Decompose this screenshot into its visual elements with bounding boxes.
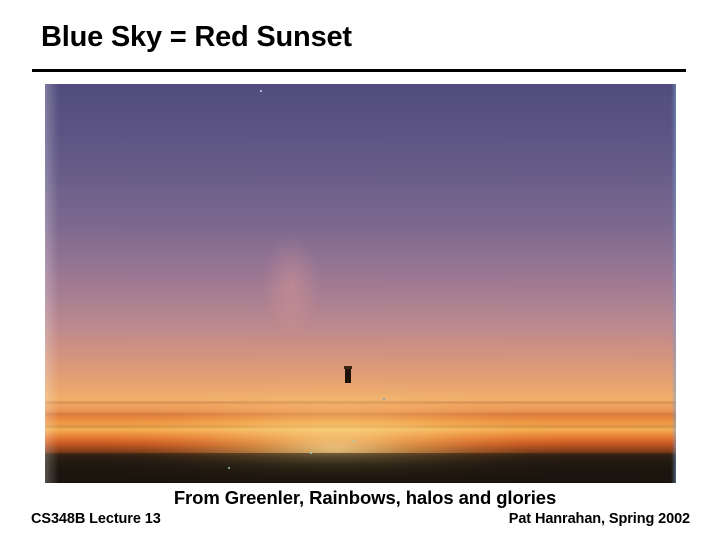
sky-gradient (45, 84, 676, 483)
photo-caption: From Greenler, Rainbows, halos and glori… (0, 487, 720, 509)
page-title: Blue Sky = Red Sunset (41, 20, 681, 54)
sunset-photograph (45, 84, 676, 483)
title-divider-rule (32, 69, 686, 72)
presentation-slide: Blue Sky = Red Sunset From Greenler, Rai… (0, 0, 720, 540)
footer-author-label: Pat Hanrahan, Spring 2002 (509, 511, 690, 527)
footer-course-label: CS348B Lecture 13 (31, 511, 161, 527)
